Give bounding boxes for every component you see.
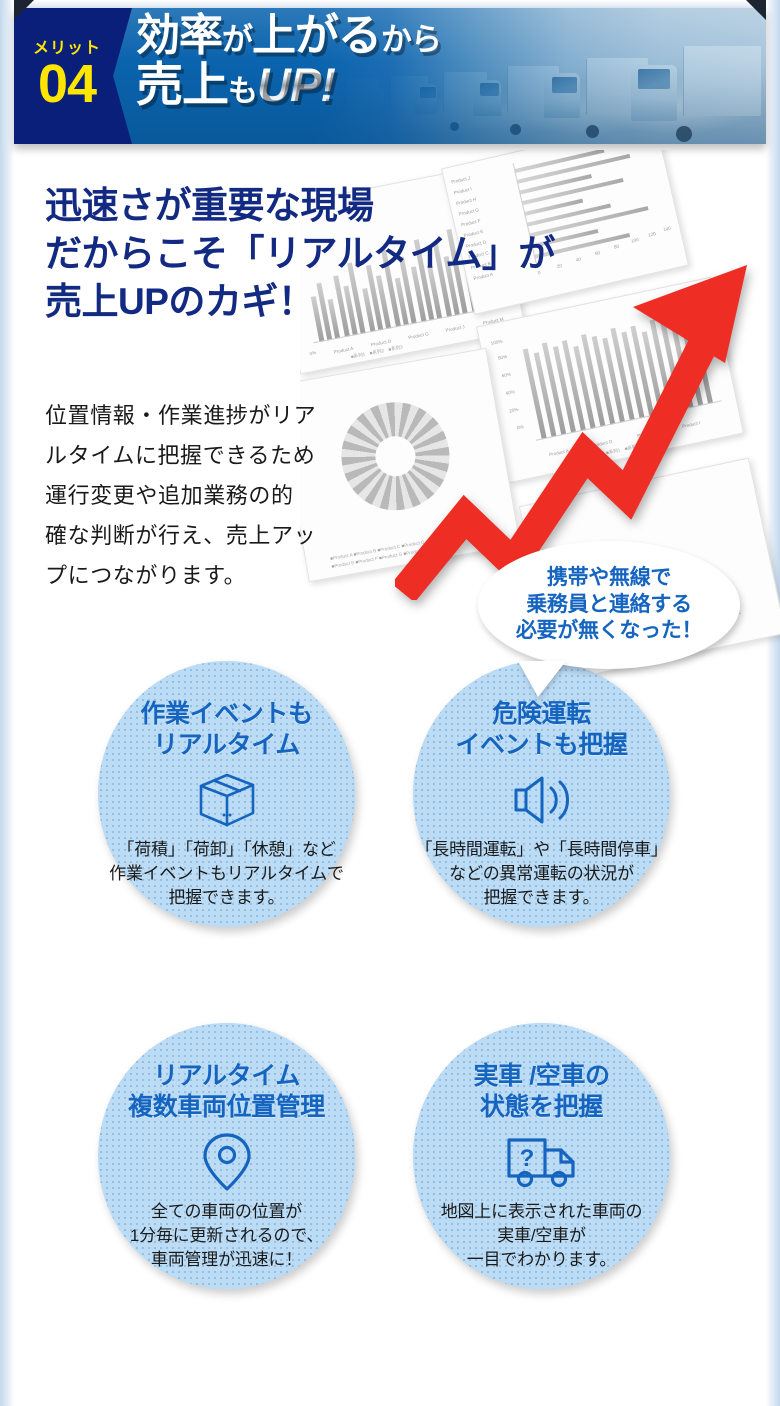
feature-body-line-3: 一目でわかります。 [441, 1248, 643, 1272]
feature-body-line-1: 「荷積」「荷卸」「休憩」など [109, 838, 344, 862]
feature-body-line-1: 地図上に表示された車両の [441, 1200, 643, 1224]
feature-body: 「長時間運転」や「長時間停車」 などの異常運転の状況が 把握できます。 [416, 838, 668, 910]
feature-title-line-1: リアルタイム [128, 1061, 325, 1092]
feature-title-line-1: 実車 /空車の [473, 1061, 609, 1092]
feature-body-line-1: 全ての車両の位置が [130, 1200, 323, 1224]
svg-text:?: ? [519, 1145, 534, 1172]
speaker-icon [510, 769, 574, 831]
feature-circle-multi-vehicle-position[interactable]: リアルタイム 複数車両位置管理 全ての車両の位置が 1分毎に更新されるので、 車… [98, 1023, 355, 1289]
box-icon [197, 769, 257, 831]
speech-bubble-text: 携帯や無線で 乗務員と連絡する 必要が無くなった！ [478, 541, 740, 669]
headline-line-1: 効率が上がるから [136, 14, 696, 59]
testimonial-speech-bubble: 携帯や無線で 乗務員と連絡する 必要が無くなった！ [478, 541, 740, 669]
feature-body-line-3: 把握できます。 [416, 886, 668, 910]
feature-body-line-3: 把握できます。 [109, 886, 344, 910]
body-line-3: 運行変更や追加業務の的 [45, 476, 397, 516]
feature-body-line-2: などの異常運転の状況が [416, 862, 668, 886]
page-title: 迅速さが重要な現場 だからこそ「リアルタイム」が 売上UPのカギ！ [45, 182, 555, 326]
feature-title-line-2: イベントも把握 [455, 730, 627, 761]
page-title-line-3: 売上UPのカギ！ [45, 278, 555, 326]
feature-title: 作業イベントも リアルタイム [140, 699, 312, 760]
feature-body-line-3: 車両管理が迅速に！ [130, 1248, 323, 1272]
feature-body-line-2: 作業イベントもリアルタイムで [109, 862, 344, 886]
feature-title: 危険運転 イベントも把握 [455, 699, 627, 760]
feature-body: 「荷積」「荷卸」「休憩」など 作業イベントもリアルタイムで 把握できます。 [109, 838, 344, 910]
map-pin-icon [201, 1131, 253, 1193]
feature-body-line-1: 「長時間運転」や「長時間停車」 [416, 838, 668, 862]
headline-l2-part-c: UP! [257, 58, 335, 111]
headline-l1-part-b: が [222, 22, 252, 57]
feature-body-line-2: 1分毎に更新されるので、 [130, 1224, 323, 1248]
headline-l1-part-d: から [381, 22, 441, 57]
body-line-2: ルタイムに把握できるため [45, 436, 397, 476]
headline-line-2: 売上もUP! [136, 61, 696, 109]
headline-l1-part-a: 効率 [136, 11, 222, 60]
headline-l1-part-c: 上がる [252, 11, 381, 60]
feature-body-line-2: 実車/空車が [441, 1224, 643, 1248]
page-title-line-1: 迅速さが重要な現場 [45, 182, 555, 230]
header-headline: 効率が上がるから 売上もUP! [136, 14, 696, 109]
infographic-page: メリット 04 効率が上がるから 売上もUP! [0, 0, 780, 1406]
feature-title-line-2: 状態を把握 [473, 1092, 609, 1123]
feature-title-line-1: 危険運転 [455, 699, 627, 730]
bubble-line-3: 必要が無くなった！ [516, 618, 702, 645]
feature-title-line-2: 複数車両位置管理 [128, 1092, 325, 1123]
headline-l2-part-a: 売上 [136, 58, 228, 111]
body-line-1: 位置情報・作業進捗がリア [45, 396, 397, 436]
feature-title-line-1: 作業イベントも [140, 699, 312, 730]
corner-fold-top-left [14, 0, 34, 20]
merit-badge-number: 04 [38, 59, 96, 110]
feature-body: 地図上に表示された車両の 実車/空車が 一目でわかります。 [441, 1200, 643, 1272]
feature-circle-dangerous-driving-event[interactable]: 危険運転 イベントも把握 「長時間運転」や「長時間停車」 などの異常運転の状況が… [413, 661, 670, 927]
headline-l2-part-b: も [228, 75, 257, 108]
bubble-line-2: 乗務員と連絡する [526, 592, 692, 619]
feature-title: 実車 /空車の 状態を把握 [473, 1061, 609, 1122]
feature-circle-loaded-empty-status[interactable]: 実車 /空車の 状態を把握 ? 地図上に表示された車両の 実車/空車が 一目でわ… [413, 1023, 670, 1289]
header-banner: メリット 04 効率が上がるから 売上もUP! [14, 8, 766, 144]
feature-title: リアルタイム 複数車両位置管理 [128, 1061, 325, 1122]
bubble-line-1: 携帯や無線で [547, 565, 671, 592]
feature-body: 全ての車両の位置が 1分毎に更新されるので、 車両管理が迅速に！ [130, 1200, 323, 1272]
page-title-line-2: だからこそ「リアルタイム」が [45, 230, 555, 278]
feature-circle-work-event-realtime[interactable]: 作業イベントも リアルタイム 「荷積」「荷卸」「休憩」など 作業イベントもリアル… [98, 661, 355, 927]
feature-title-line-2: リアルタイム [140, 730, 312, 761]
body-paragraph: 位置情報・作業進捗がリア ルタイムに把握できるため 運行変更や追加業務の的 確な… [45, 396, 397, 596]
corner-fold-top-right [746, 0, 766, 20]
frame-left-edge [0, 0, 14, 1406]
body-line-4: 確な判断が行え、売上アッ [45, 516, 397, 556]
body-line-5: プにつながります。 [45, 556, 397, 596]
truck-question-icon: ? [505, 1131, 579, 1193]
